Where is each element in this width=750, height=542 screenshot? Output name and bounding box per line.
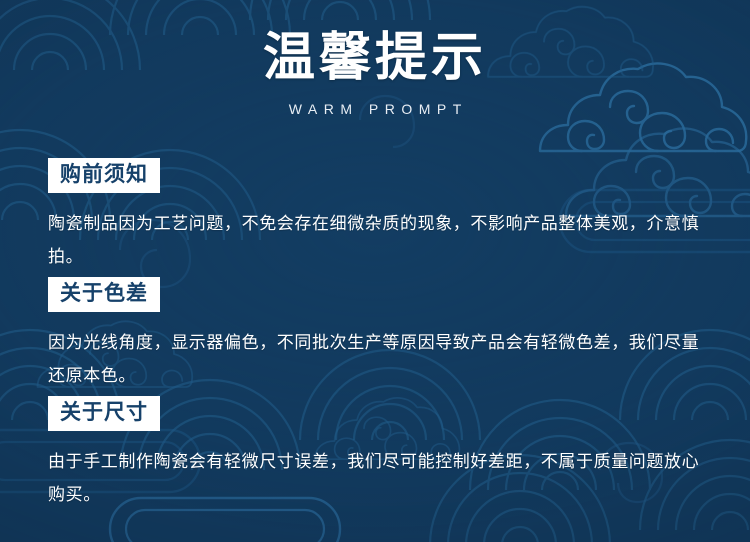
section-color-difference: 关于色差 因为光线角度，显示器偏色，不同批次生产等原因导致产品会有轻微色差，我们… (48, 277, 710, 392)
section-badge-purchase-notice: 购前须知 (48, 158, 160, 193)
section-body-purchase-notice: 陶瓷制品因为工艺问题，不免会存在细微杂质的现象，不影响产品整体美观，介意慎拍。 (48, 207, 706, 273)
section-body-color-difference: 因为光线角度，显示器偏色，不同批次生产等原因导致产品会有轻微色差，我们尽量还原本… (48, 326, 706, 392)
section-purchase-notice: 购前须知 陶瓷制品因为工艺问题，不免会存在细微杂质的现象，不影响产品整体美观，介… (48, 158, 710, 273)
section-badge-size: 关于尺寸 (48, 396, 160, 431)
page-title: 温馨提示 (0, 30, 750, 88)
section-badge-color-difference: 关于色差 (48, 277, 160, 312)
warm-prompt-banner: 温馨提示 WARM PROMPT 购前须知 陶瓷制品因为工艺问题，不免会存在细微… (0, 0, 750, 542)
page-subtitle: WARM PROMPT (0, 100, 750, 118)
section-body-size: 由于手工制作陶瓷会有轻微尺寸误差，我们尽可能控制好差距，不属于质量问题放心购买。 (48, 445, 706, 511)
header: 温馨提示 WARM PROMPT (0, 30, 750, 118)
section-size: 关于尺寸 由于手工制作陶瓷会有轻微尺寸误差，我们尽可能控制好差距，不属于质量问题… (48, 396, 710, 511)
